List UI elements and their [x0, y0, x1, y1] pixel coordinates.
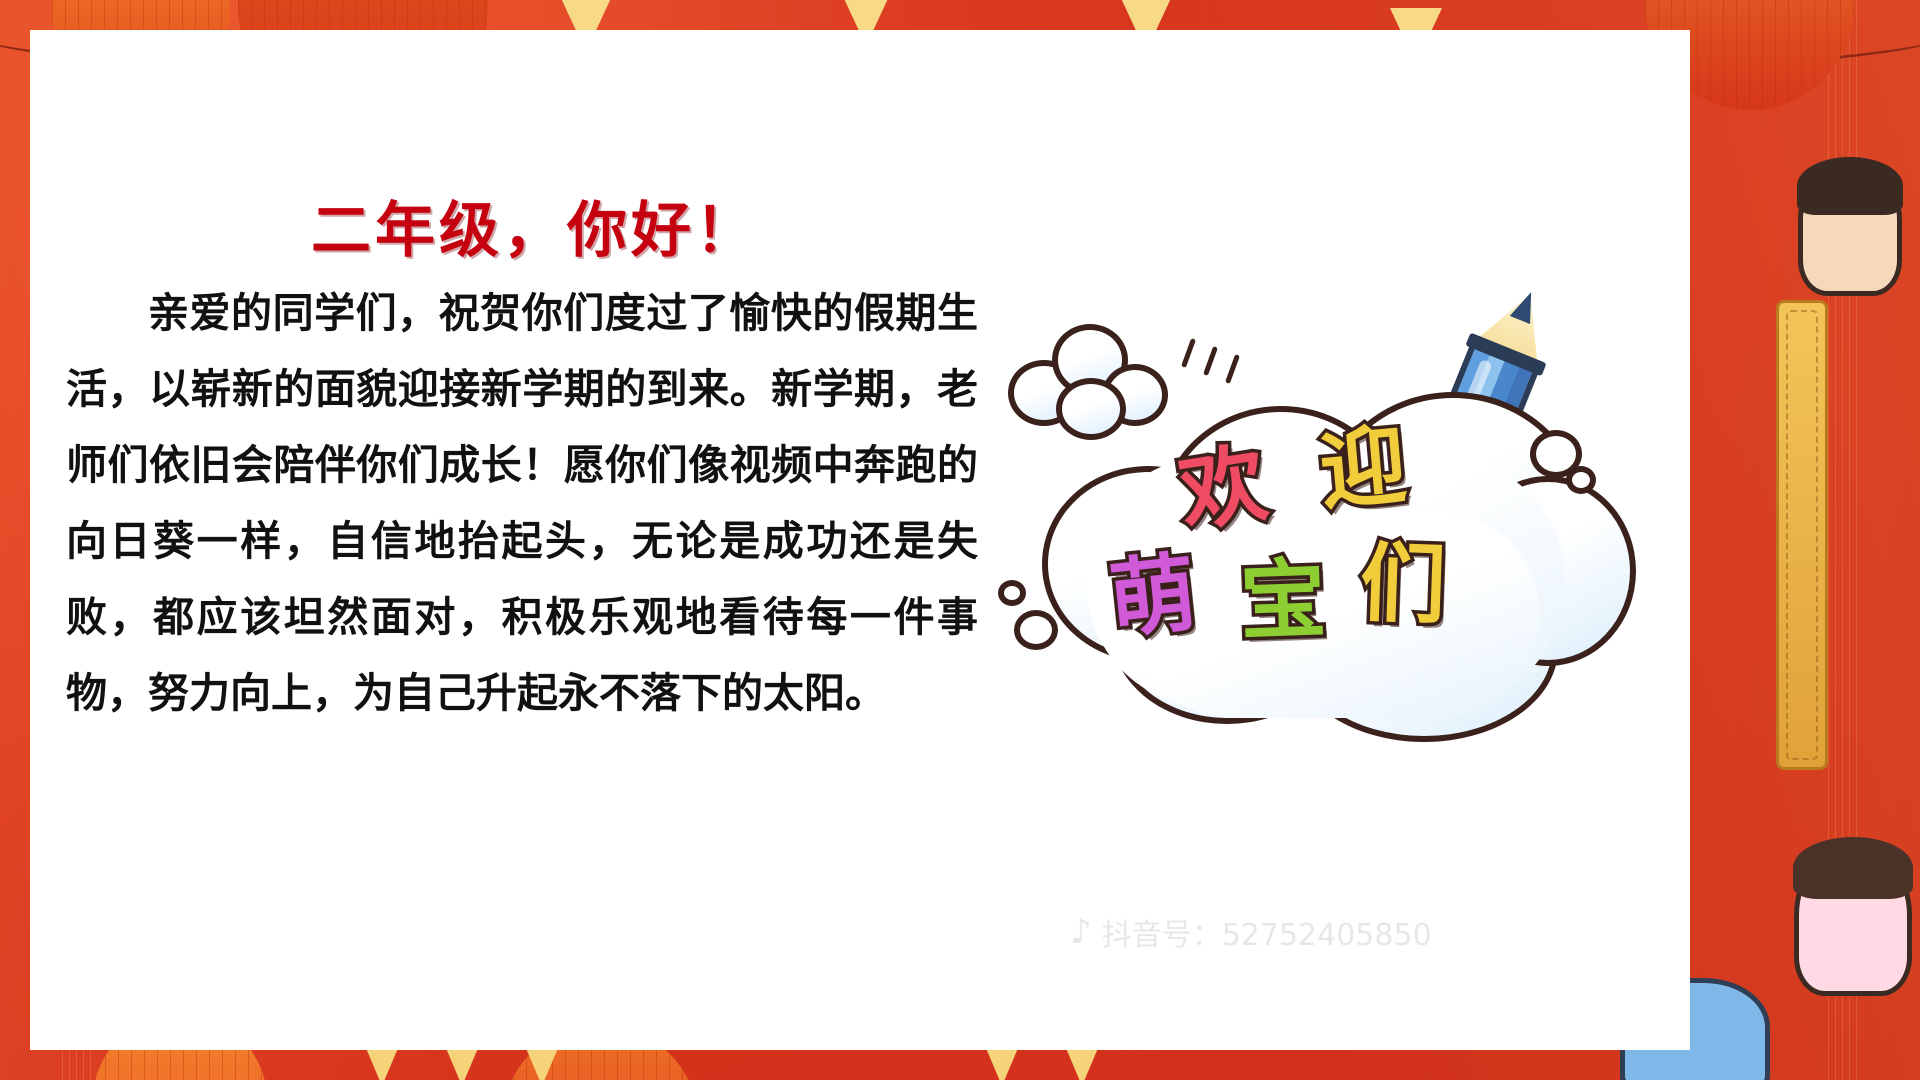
tiktok-note-icon: ♪	[1070, 915, 1092, 949]
watermark: ♪ 抖音号：52752405850	[1070, 910, 1432, 954]
cloud-character-5: 们	[1359, 541, 1448, 630]
child-illustration	[1798, 168, 1902, 296]
cloud-mini-puff	[1014, 610, 1058, 650]
cloud-character-4: 宝	[1239, 557, 1328, 646]
cloud-mini-puff	[1566, 466, 1596, 494]
watermark-text: 抖音号：52752405850	[1102, 910, 1432, 954]
welcome-message-body: 亲爱的同学们，祝贺你们度过了愉快的假期生活，以崭新的面貌迎接新学期的到来。新学期…	[66, 275, 978, 731]
page-title: 二年级，你好！	[30, 182, 1040, 269]
child-illustration	[1794, 846, 1912, 996]
motion-tick	[1225, 354, 1240, 384]
motion-tick	[1181, 338, 1196, 368]
cloud-puff-icon	[1008, 324, 1176, 446]
cloud-character-1: 欢	[1174, 440, 1272, 538]
motion-tick	[1203, 346, 1218, 376]
welcome-cloud-illustration: 欢 迎 萌 宝 们	[990, 280, 1590, 750]
cloud-character-3: 萌	[1106, 550, 1201, 645]
gold-plaque	[1776, 300, 1828, 770]
white-content-card: 二年级，你好！ 亲爱的同学们，祝贺你们度过了愉快的假期生活，以崭新的面貌迎接新学…	[30, 30, 1690, 1050]
cloud-character-2: 迎	[1316, 422, 1409, 515]
cloud-mini-puff	[998, 580, 1026, 606]
